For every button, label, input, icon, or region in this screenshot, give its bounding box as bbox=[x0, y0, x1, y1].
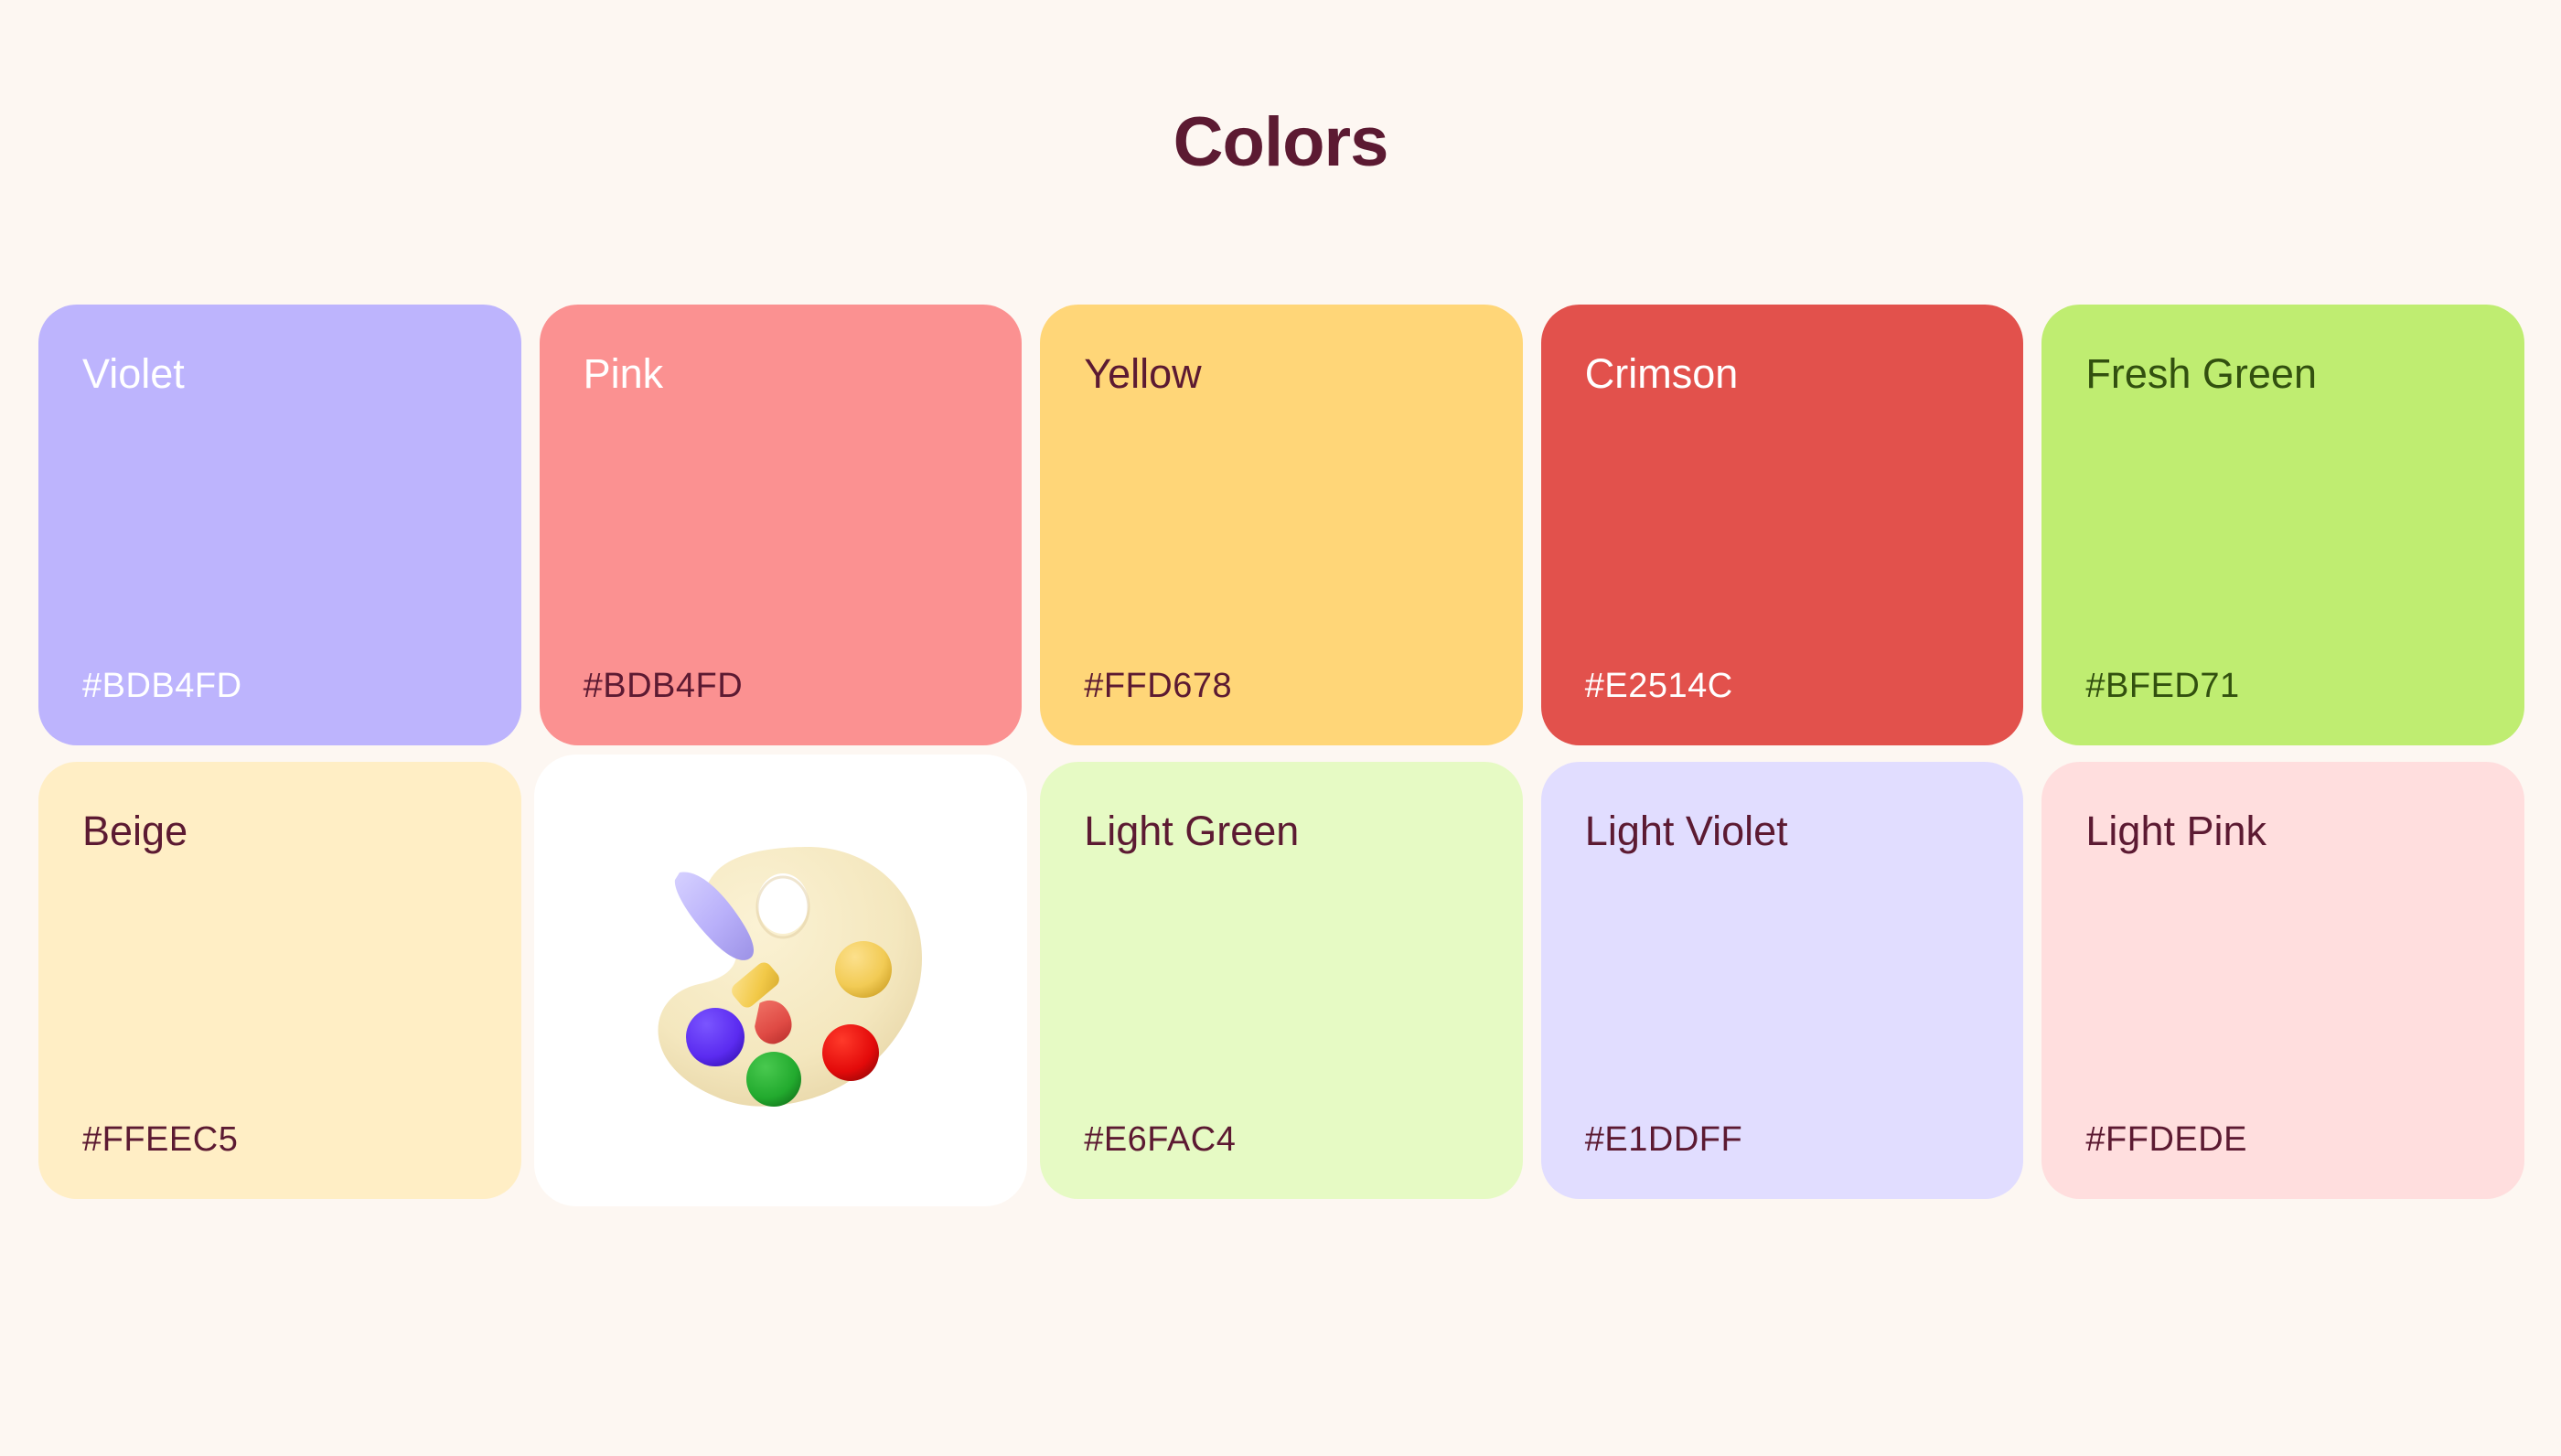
swatch-card-light-pink[interactable]: Light Pink #FFDEDE bbox=[2041, 762, 2524, 1199]
swatch-grid: Violet #BDB4FD Pink #BDB4FD Yellow #FFD6… bbox=[38, 305, 2524, 1201]
swatch-name: Yellow bbox=[1084, 352, 1479, 395]
paint-dot-yellow bbox=[835, 941, 892, 998]
swatch-name: Light Pink bbox=[2085, 809, 2481, 852]
swatch-name: Light Green bbox=[1084, 809, 1479, 852]
swatch-hex: #FFDEDE bbox=[2085, 1122, 2481, 1157]
swatch-name: Crimson bbox=[1585, 352, 1980, 395]
color-palette-page: Colors Violet #BDB4FD Pink #BDB4FD Yello… bbox=[0, 0, 2561, 1456]
swatch-name: Pink bbox=[584, 352, 979, 395]
swatch-card-light-green[interactable]: Light Green #E6FAC4 bbox=[1040, 762, 1523, 1199]
paint-dot-green bbox=[746, 1052, 801, 1107]
swatch-hex: #FFEEC5 bbox=[82, 1122, 477, 1157]
paint-dot-red bbox=[822, 1024, 879, 1081]
swatch-card-violet[interactable]: Violet #BDB4FD bbox=[38, 305, 521, 745]
swatch-hex: #E2514C bbox=[1585, 669, 1980, 703]
swatch-name: Violet bbox=[82, 352, 477, 395]
swatch-hex: #FFD678 bbox=[1084, 669, 1479, 703]
paint-dot-blue bbox=[686, 1008, 745, 1066]
swatch-hex: #E6FAC4 bbox=[1084, 1122, 1479, 1157]
swatch-hex: #BFED71 bbox=[2085, 669, 2481, 703]
swatch-card-yellow[interactable]: Yellow #FFD678 bbox=[1040, 305, 1523, 745]
swatch-hex: #BDB4FD bbox=[82, 669, 477, 703]
swatch-hex: #E1DDFF bbox=[1585, 1122, 1980, 1157]
artist-palette-icon bbox=[629, 834, 931, 1127]
swatch-card-fresh-green[interactable]: Fresh Green #BFED71 bbox=[2041, 305, 2524, 745]
swatch-name: Fresh Green bbox=[2085, 352, 2481, 395]
swatch-card-pink[interactable]: Pink #BDB4FD bbox=[540, 305, 1023, 745]
swatch-name: Light Violet bbox=[1585, 809, 1980, 852]
palette-thumb-hole bbox=[757, 873, 809, 934]
swatch-card-beige[interactable]: Beige #FFEEC5 bbox=[38, 762, 521, 1199]
swatch-card-light-violet[interactable]: Light Violet #E1DDFF bbox=[1541, 762, 2024, 1199]
swatch-hex: #BDB4FD bbox=[584, 669, 979, 703]
swatch-name: Beige bbox=[82, 809, 477, 852]
swatch-card-crimson[interactable]: Crimson #E2514C bbox=[1541, 305, 2024, 745]
page-title: Colors bbox=[0, 108, 2561, 177]
swatch-card-illustration[interactable] bbox=[534, 755, 1028, 1206]
